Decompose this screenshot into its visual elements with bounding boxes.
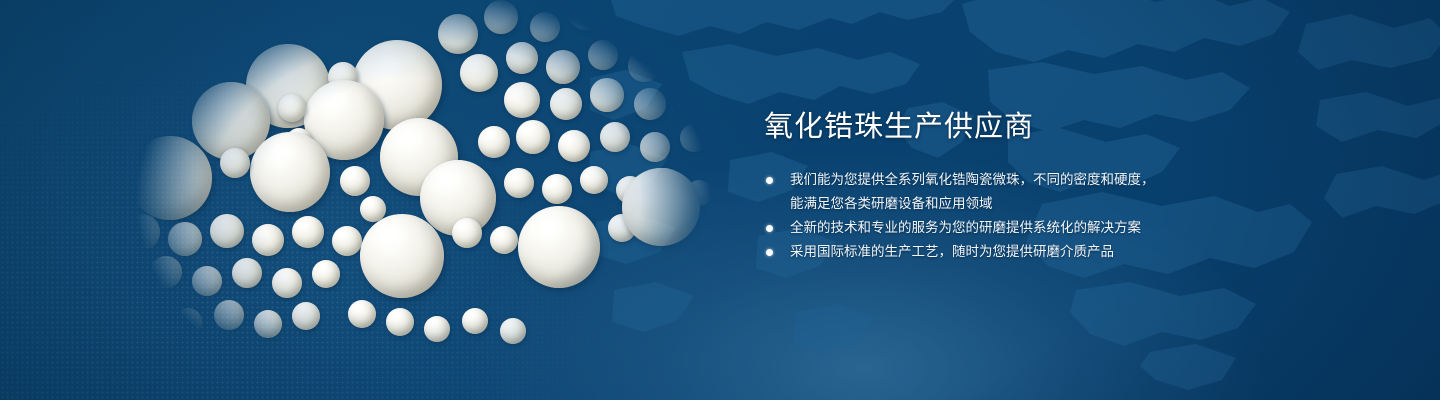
- banner-vignette: [0, 0, 1440, 400]
- hero-banner: 氧化锆珠生产供应商 我们能为您提供全系列氧化锆陶瓷微珠，不同的密度和硬度， 能满…: [0, 0, 1440, 400]
